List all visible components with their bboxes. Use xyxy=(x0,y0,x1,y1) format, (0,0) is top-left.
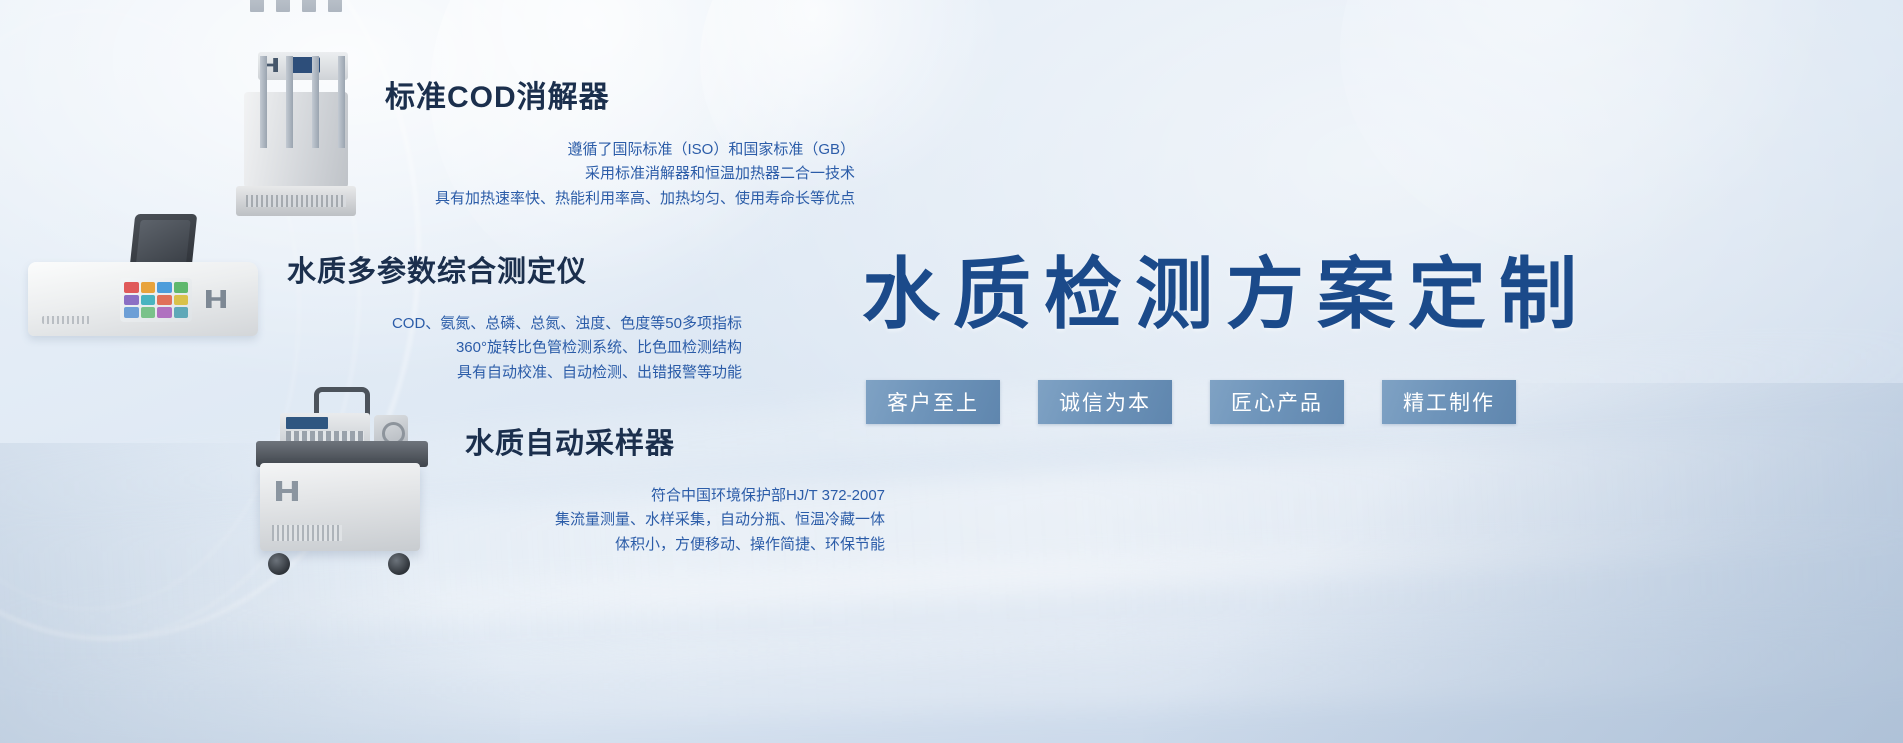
digester-rod-3 xyxy=(312,56,319,148)
digester-rod-1 xyxy=(260,56,267,148)
product-block-multi-parameter-analyzer: 水质多参数综合测定仪 COD、氨氮、总磷、总氮、浊度、色度等50多项指标 360… xyxy=(287,248,742,385)
description-line: 具有自动校准、自动检测、出错报警等功能 xyxy=(287,361,742,385)
analyzer-touchscreen xyxy=(120,278,192,322)
digester-rod-2 xyxy=(286,56,293,148)
product-title: 水质多参数综合测定仪 xyxy=(287,248,742,290)
product-description: COD、氨氮、总磷、总氮、浊度、色度等50多项指标 360°旋转比色管检测系统、… xyxy=(287,312,742,385)
brand-logo-icon xyxy=(276,481,298,501)
digester-tube-4 xyxy=(328,0,342,12)
sampler-cabinet xyxy=(260,463,420,551)
description-line: 具有加热速率快、热能利用率高、加热均匀、使用寿命长等优点 xyxy=(385,187,855,211)
product-description: 符合中国环境保护部HJ/T 372-2007 集流量测量、水样采集，自动分瓶、恒… xyxy=(465,484,885,557)
slogan-badge-fine-manufacturing[interactable]: 精工制作 xyxy=(1382,380,1516,424)
product-description: 遵循了国际标准（ISO）和国家标准（GB） 采用标准消解器和恒温加热器二合一技术… xyxy=(385,138,855,211)
digester-body xyxy=(244,92,348,188)
slogan-badge-integrity[interactable]: 诚信为本 xyxy=(1038,380,1172,424)
slogan-badge-customer-first[interactable]: 客户至上 xyxy=(866,380,1000,424)
sampler-display xyxy=(286,417,328,429)
auto-water-sampler-image xyxy=(250,395,450,575)
digester-tube-3 xyxy=(302,0,316,12)
product-block-cod-digester: 标准COD消解器 遵循了国际标准（ISO）和国家标准（GB） 采用标准消解器和恒… xyxy=(385,72,855,211)
multi-parameter-analyzer-image xyxy=(28,214,258,336)
slogan-badge-list: 客户至上 诚信为本 匠心产品 精工制作 xyxy=(866,380,1516,424)
description-line: 采用标准消解器和恒温加热器二合一技术 xyxy=(385,162,855,186)
slogan-badge-craftsmanship[interactable]: 匠心产品 xyxy=(1210,380,1344,424)
description-line: COD、氨氮、总磷、总氮、浊度、色度等50多项指标 xyxy=(287,312,742,336)
description-line: 符合中国环境保护部HJ/T 372-2007 xyxy=(465,484,885,508)
digester-tube-2 xyxy=(276,0,290,12)
product-title: 水质自动采样器 xyxy=(465,420,885,462)
digester-tube-1 xyxy=(250,0,264,12)
sampler-wheel-right xyxy=(388,553,410,575)
description-line: 360°旋转比色管检测系统、比色皿检测结构 xyxy=(287,336,742,360)
digester-rod-4 xyxy=(338,56,345,148)
product-block-auto-water-sampler: 水质自动采样器 符合中国环境保护部HJ/T 372-2007 集流量测量、水样采… xyxy=(465,420,885,557)
digester-base xyxy=(236,186,356,216)
description-line: 集流量测量、水样采集，自动分瓶、恒温冷藏一体 xyxy=(465,508,885,532)
analyzer-vent xyxy=(42,316,90,324)
cod-digester-image xyxy=(236,48,356,216)
brand-logo-icon xyxy=(206,290,226,308)
product-title: 标准COD消解器 xyxy=(385,72,855,116)
sampler-wheel-left xyxy=(268,553,290,575)
description-line: 遵循了国际标准（ISO）和国家标准（GB） xyxy=(385,138,855,162)
description-line: 体积小，方便移动、操作简捷、环保节能 xyxy=(465,533,885,557)
sampler-keypad xyxy=(286,431,364,441)
page-title: 水质检测方案定制 xyxy=(862,232,1590,344)
